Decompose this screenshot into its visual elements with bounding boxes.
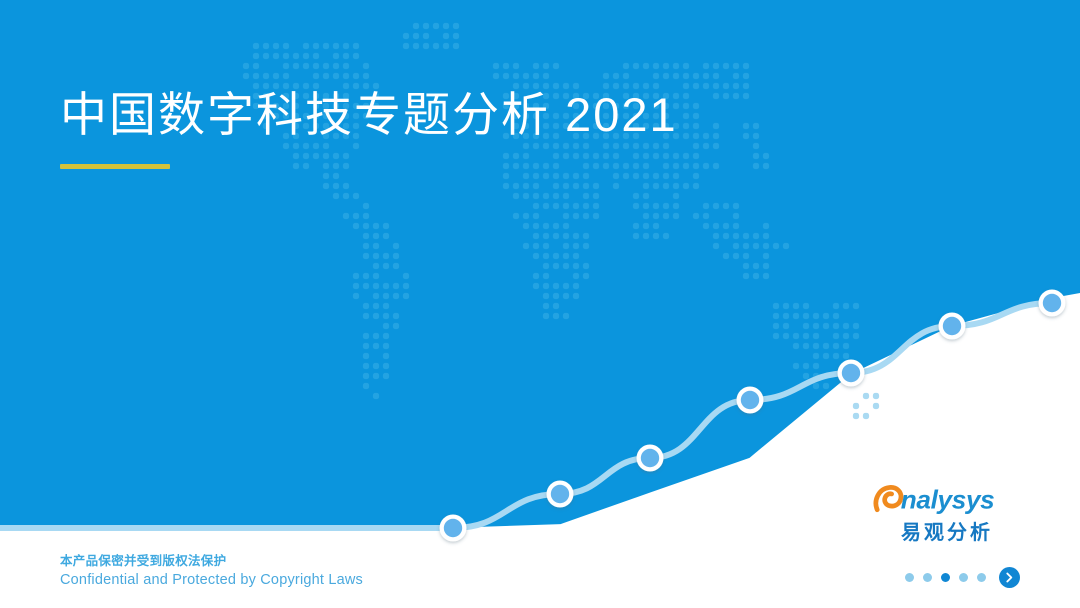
copyright-english: Confidential and Protected by Copyright … [60, 570, 363, 591]
logo-swoosh [876, 487, 901, 509]
map-dot [853, 413, 859, 419]
map-dot [853, 403, 859, 409]
title-accent-rule [60, 164, 170, 169]
brand-logo: nalysys 易观分析 [872, 481, 1022, 545]
analysys-wordmark-icon: nalysys [872, 481, 1009, 515]
map-dot [863, 413, 869, 419]
copyright-chinese: 本产品保密并受到版权法保护 [60, 552, 363, 570]
pager-dot-1[interactable] [905, 573, 914, 582]
logo-chinese-name: 易观分析 [872, 516, 1022, 545]
map-dot [873, 393, 879, 399]
page-title: 中国数字科技专题分析 2021 [60, 88, 920, 142]
slide-cover: 中国数字科技专题分析 2021 本产品保密并受到版权法保护 Confidenti… [0, 0, 1080, 608]
pager-dot-4[interactable] [959, 573, 968, 582]
footer-copyright: 本产品保密并受到版权法保护 Confidential and Protected… [60, 552, 363, 591]
chevron-right-icon [1004, 572, 1015, 583]
pager-dot-2[interactable] [923, 573, 932, 582]
pagination[interactable] [905, 567, 1020, 588]
pager-dot-5[interactable] [977, 573, 986, 582]
map-dot [863, 393, 869, 399]
next-slide-button[interactable] [999, 567, 1020, 588]
logo-wordmark-text: nalysys [901, 484, 995, 514]
pager-dot-3[interactable] [941, 573, 950, 582]
title-block: 中国数字科技专题分析 2021 [60, 88, 920, 169]
map-dot [873, 403, 879, 409]
